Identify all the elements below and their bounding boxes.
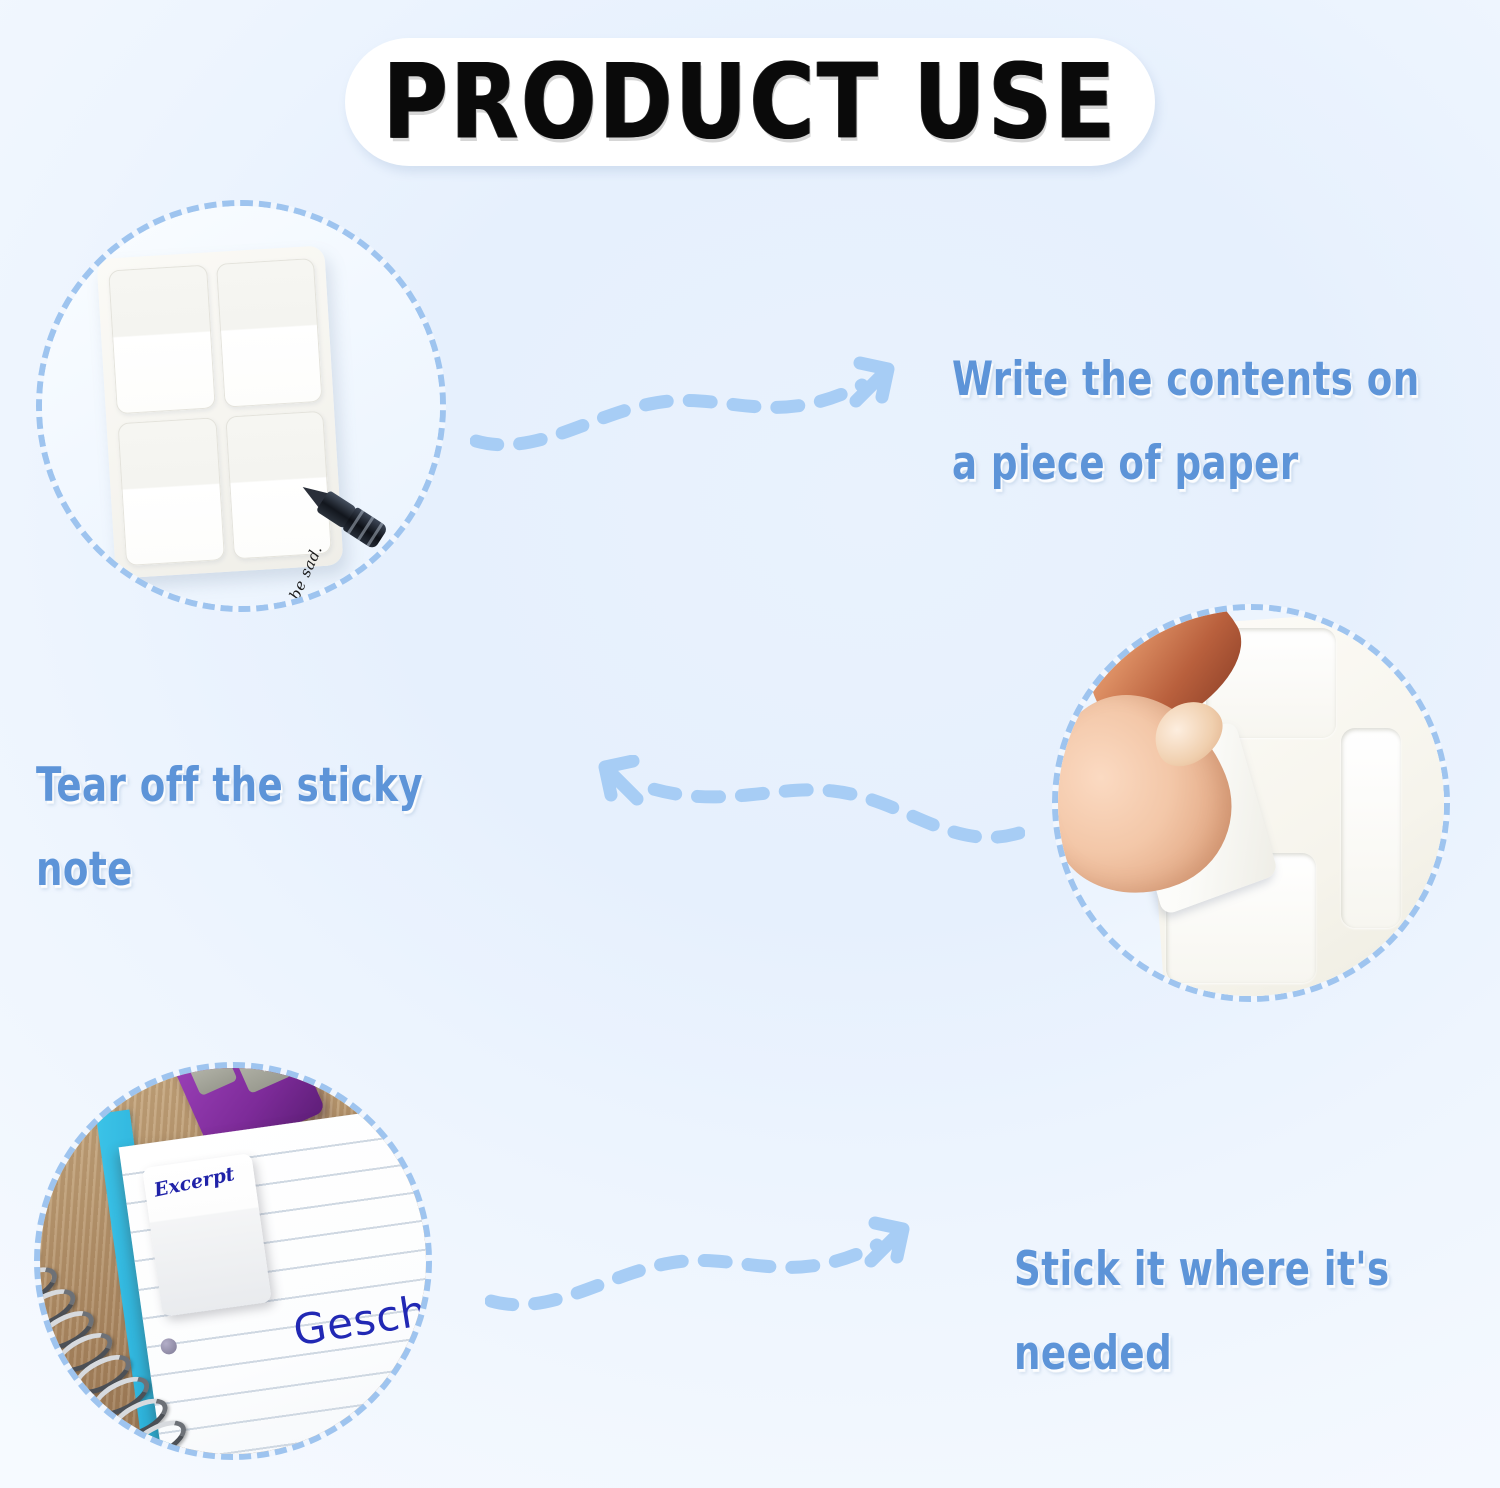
excerpt-sticky-tab: Excerpt [142,1153,272,1317]
step-2-arrow [575,755,1025,870]
arrow-head-icon [605,761,637,799]
sticky-note [108,265,215,414]
excerpt-tab-label: Excerpt [152,1163,236,1201]
step-3-photo-content: + Gesch Excerpt [38,1066,428,1456]
step-3-photo: + Gesch Excerpt [34,1062,432,1460]
step-3-arrow [485,1215,935,1335]
sticky-note [215,258,322,407]
step-2-caption: Tear off the sticky note [36,744,529,911]
step-2-photo-content [1056,608,1446,998]
step-1-photo: Don't be sad. [36,200,446,612]
step-1-caption: Write the contents on a piece of paper [952,338,1498,505]
step-2-photo [1052,604,1450,1002]
arrow-dashed-path [491,1245,877,1305]
product-use-infographic: PRODUCT USE Don't be sad. [0,0,1500,1488]
arrow-dashed-path [476,385,862,445]
sticky-note-pad: Don't be sad. [96,245,343,578]
calculator-key [187,1066,237,1096]
step-1-arrow [470,355,920,475]
step-1-photo-content: Don't be sad. [40,204,442,608]
step-3-caption: Stick it where it's needed [1014,1228,1500,1395]
sticky-note-slot [1341,728,1401,928]
sticky-note [117,417,224,566]
page-title: PRODUCT USE [383,50,1118,154]
calculator-plus-key: + [234,1066,292,1094]
arrow-dashed-path [635,783,1019,837]
title-banner: PRODUCT USE [345,38,1155,166]
